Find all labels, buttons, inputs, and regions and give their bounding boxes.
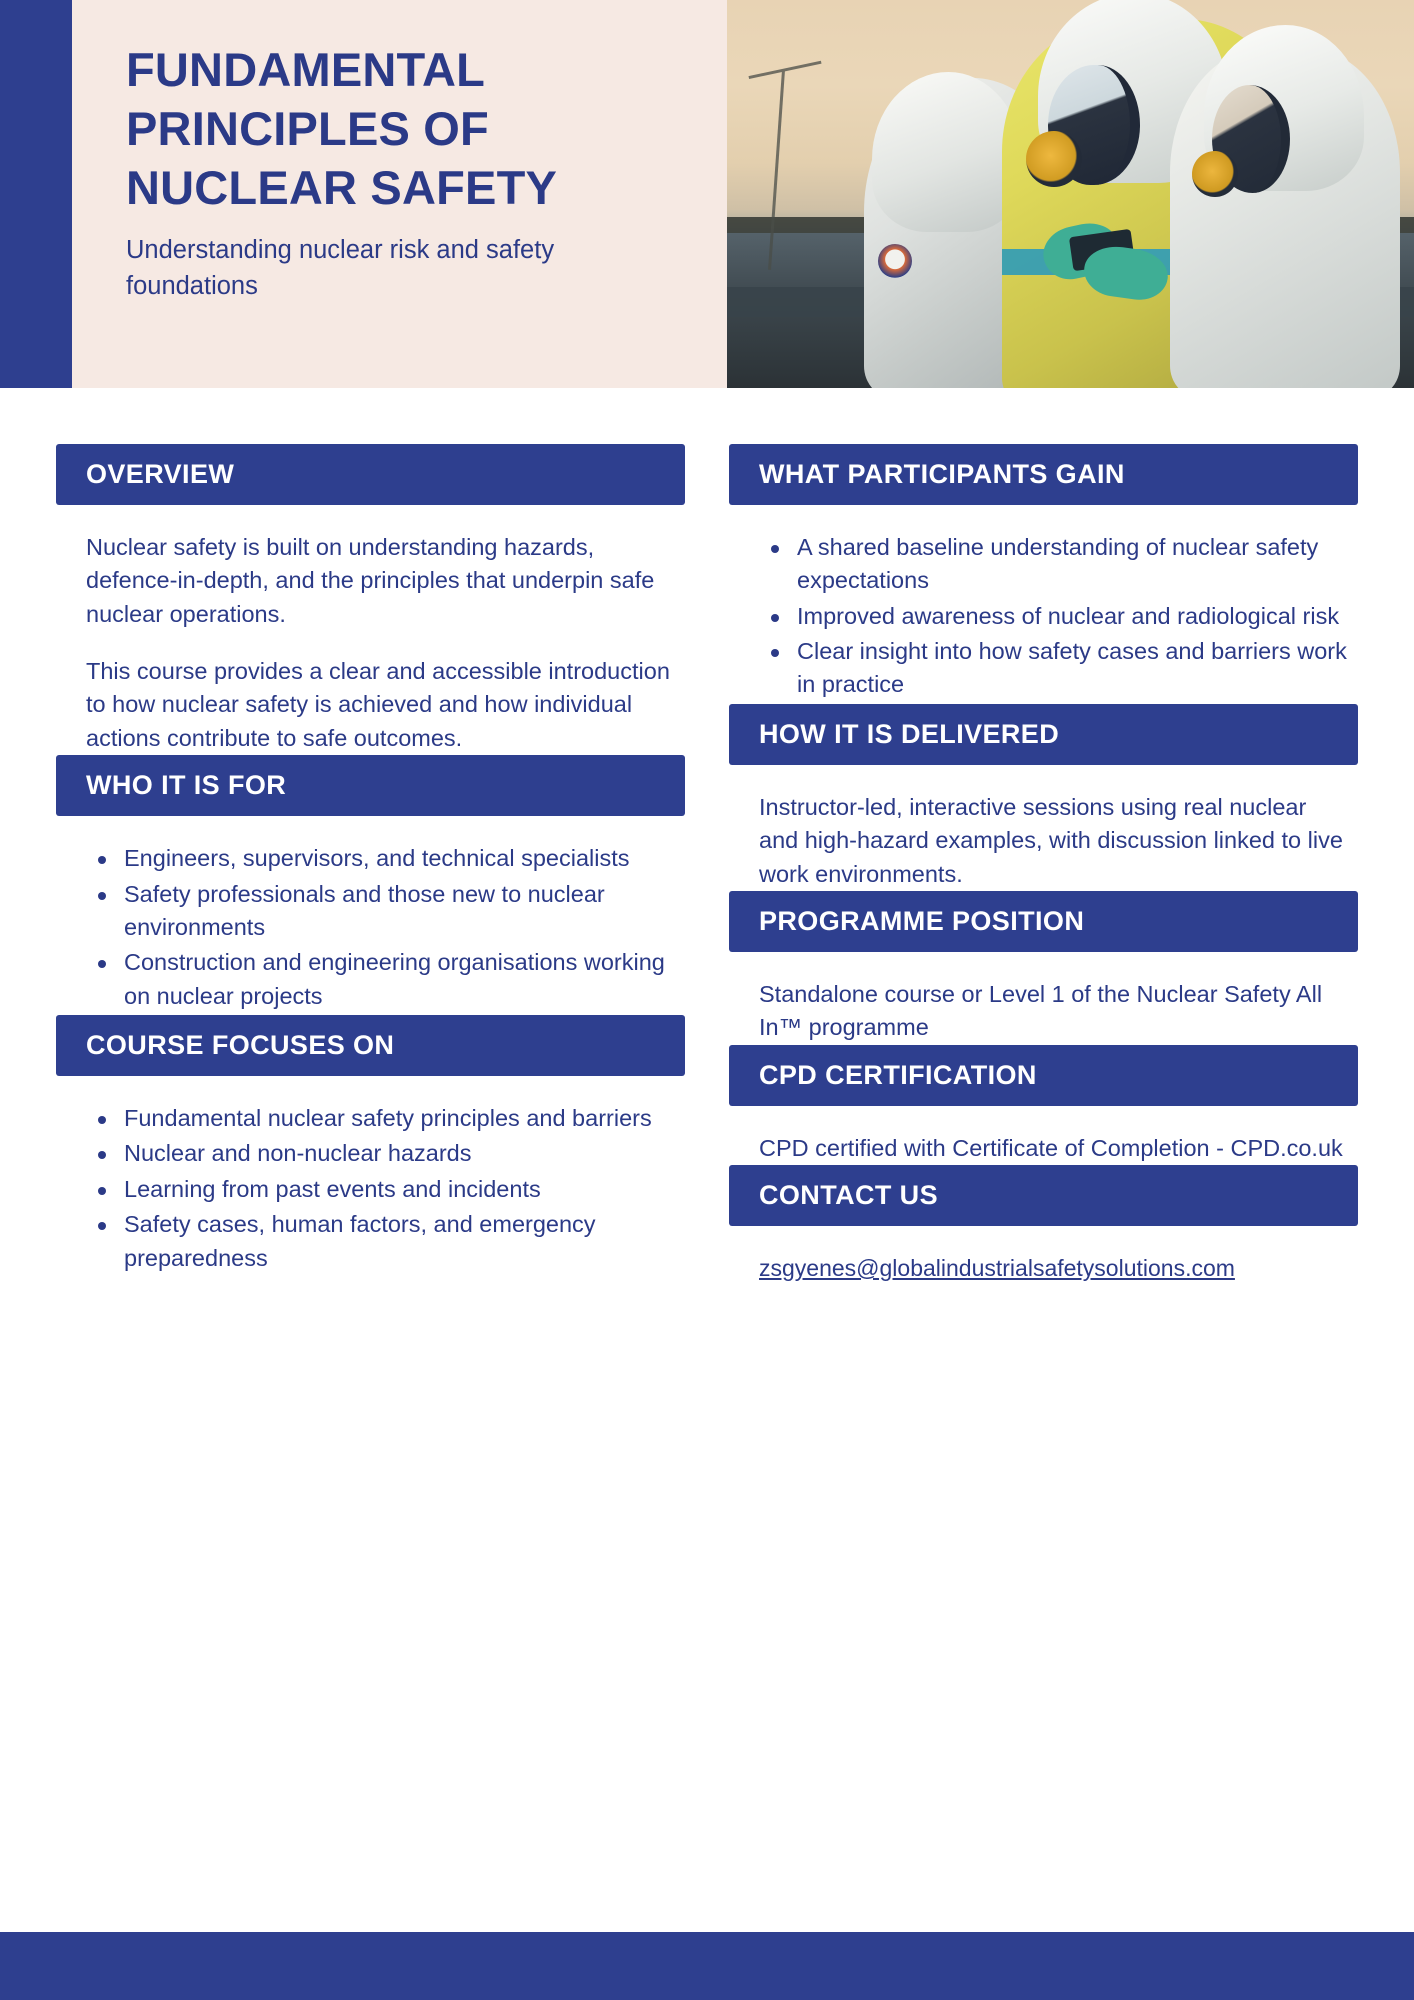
section-title: HOW IT IS DELIVERED bbox=[759, 719, 1358, 750]
bullet-list: Engineers, supervisors, and technical sp… bbox=[86, 842, 679, 1013]
section-how-it-is-delivered: HOW IT IS DELIVERED Instructor-led, inte… bbox=[729, 704, 1358, 891]
section-body-cpd-certification: CPD certified with Certificate of Comple… bbox=[729, 1106, 1358, 1165]
page-subtitle: Understanding nuclear risk and safety fo… bbox=[126, 232, 687, 304]
section-title: CPD CERTIFICATION bbox=[759, 1060, 1358, 1091]
section-header-what-participants-gain: WHAT PARTICIPANTS GAIN bbox=[729, 444, 1358, 505]
section-header-overview: OVERVIEW bbox=[56, 444, 685, 505]
list-item: Improved awareness of nuclear and radiol… bbox=[759, 600, 1352, 633]
list-item: Fundamental nuclear safety principles an… bbox=[86, 1102, 679, 1135]
list-item: Safety professionals and those new to nu… bbox=[86, 878, 679, 945]
header-title-block: FUNDAMENTAL PRINCIPLES OF NUCLEAR SAFETY… bbox=[72, 0, 727, 388]
list-item: Safety cases, human factors, and emergen… bbox=[86, 1208, 679, 1275]
bullet-list: Fundamental nuclear safety principles an… bbox=[86, 1102, 679, 1275]
page-header: FUNDAMENTAL PRINCIPLES OF NUCLEAR SAFETY… bbox=[0, 0, 1414, 388]
respirator-cartridge-icon bbox=[1192, 151, 1238, 197]
header-accent-strip bbox=[0, 0, 72, 388]
section-who-it-is-for: WHO IT IS FOR Engineers, supervisors, an… bbox=[56, 755, 685, 1013]
respirator-cartridge-icon bbox=[1026, 131, 1082, 187]
paragraph: Standalone course or Level 1 of the Nucl… bbox=[759, 978, 1352, 1045]
contact-email-link[interactable]: zsgyenes@globalindustrialsafetysolutions… bbox=[759, 1252, 1235, 1284]
page-title: FUNDAMENTAL PRINCIPLES OF NUCLEAR SAFETY bbox=[126, 40, 687, 218]
section-header-cpd-certification: CPD CERTIFICATION bbox=[729, 1045, 1358, 1106]
section-title: WHAT PARTICIPANTS GAIN bbox=[759, 459, 1358, 490]
section-what-participants-gain: WHAT PARTICIPANTS GAIN A shared baseline… bbox=[729, 444, 1358, 702]
section-cpd-certification: CPD CERTIFICATION CPD certified with Cer… bbox=[729, 1045, 1358, 1165]
section-programme-position: PROGRAMME POSITION Standalone course or … bbox=[729, 891, 1358, 1045]
section-contact-us: CONTACT US zsgyenes@globalindustrialsafe… bbox=[729, 1165, 1358, 1284]
section-body-what-participants-gain: A shared baseline understanding of nucle… bbox=[729, 505, 1358, 702]
paragraph: CPD certified with Certificate of Comple… bbox=[759, 1132, 1352, 1165]
list-item: Construction and engineering organisatio… bbox=[86, 946, 679, 1013]
section-body-contact-us: zsgyenes@globalindustrialsafetysolutions… bbox=[729, 1226, 1358, 1284]
section-course-focuses-on: COURSE FOCUSES ON Fundamental nuclear sa… bbox=[56, 1015, 685, 1275]
list-item: Learning from past events and incidents bbox=[86, 1173, 679, 1206]
section-overview: OVERVIEW Nuclear safety is built on unde… bbox=[56, 444, 685, 755]
list-item: Clear insight into how safety cases and … bbox=[759, 635, 1352, 702]
section-title: PROGRAMME POSITION bbox=[759, 906, 1358, 937]
section-title: CONTACT US bbox=[759, 1180, 1358, 1211]
section-body-course-focuses-on: Fundamental nuclear safety principles an… bbox=[56, 1076, 685, 1275]
bullet-list: A shared baseline understanding of nucle… bbox=[759, 531, 1352, 702]
section-header-contact-us: CONTACT US bbox=[729, 1165, 1358, 1226]
section-header-programme-position: PROGRAMME POSITION bbox=[729, 891, 1358, 952]
header-photo bbox=[727, 0, 1414, 388]
hood-shape bbox=[872, 72, 1022, 232]
section-body-who-it-is-for: Engineers, supervisors, and technical sp… bbox=[56, 816, 685, 1013]
section-header-how-it-is-delivered: HOW IT IS DELIVERED bbox=[729, 704, 1358, 765]
section-header-course-focuses-on: COURSE FOCUSES ON bbox=[56, 1015, 685, 1076]
poster-page: FUNDAMENTAL PRINCIPLES OF NUCLEAR SAFETY… bbox=[0, 0, 1414, 2000]
section-header-who-it-is-for: WHO IT IS FOR bbox=[56, 755, 685, 816]
section-body-overview: Nuclear safety is built on understanding… bbox=[56, 505, 685, 755]
section-title: WHO IT IS FOR bbox=[86, 770, 685, 801]
paragraph: Instructor-led, interactive sessions usi… bbox=[759, 791, 1352, 891]
content-area: OVERVIEW Nuclear safety is built on unde… bbox=[0, 388, 1414, 1284]
left-column: OVERVIEW Nuclear safety is built on unde… bbox=[56, 444, 685, 1284]
section-title: COURSE FOCUSES ON bbox=[86, 1030, 685, 1061]
list-item: Nuclear and non-nuclear hazards bbox=[86, 1137, 679, 1170]
right-column: WHAT PARTICIPANTS GAIN A shared baseline… bbox=[729, 444, 1358, 1284]
section-body-how-it-is-delivered: Instructor-led, interactive sessions usi… bbox=[729, 765, 1358, 891]
section-body-programme-position: Standalone course or Level 1 of the Nucl… bbox=[729, 952, 1358, 1045]
section-title: OVERVIEW bbox=[86, 459, 685, 490]
paragraph: This course provides a clear and accessi… bbox=[86, 655, 679, 755]
hazmat-worker-right-icon bbox=[1170, 47, 1400, 388]
footer-bar bbox=[0, 1932, 1414, 2000]
list-item: Engineers, supervisors, and technical sp… bbox=[86, 842, 679, 875]
paragraph: Nuclear safety is built on understanding… bbox=[86, 531, 679, 631]
list-item: A shared baseline understanding of nucle… bbox=[759, 531, 1352, 598]
